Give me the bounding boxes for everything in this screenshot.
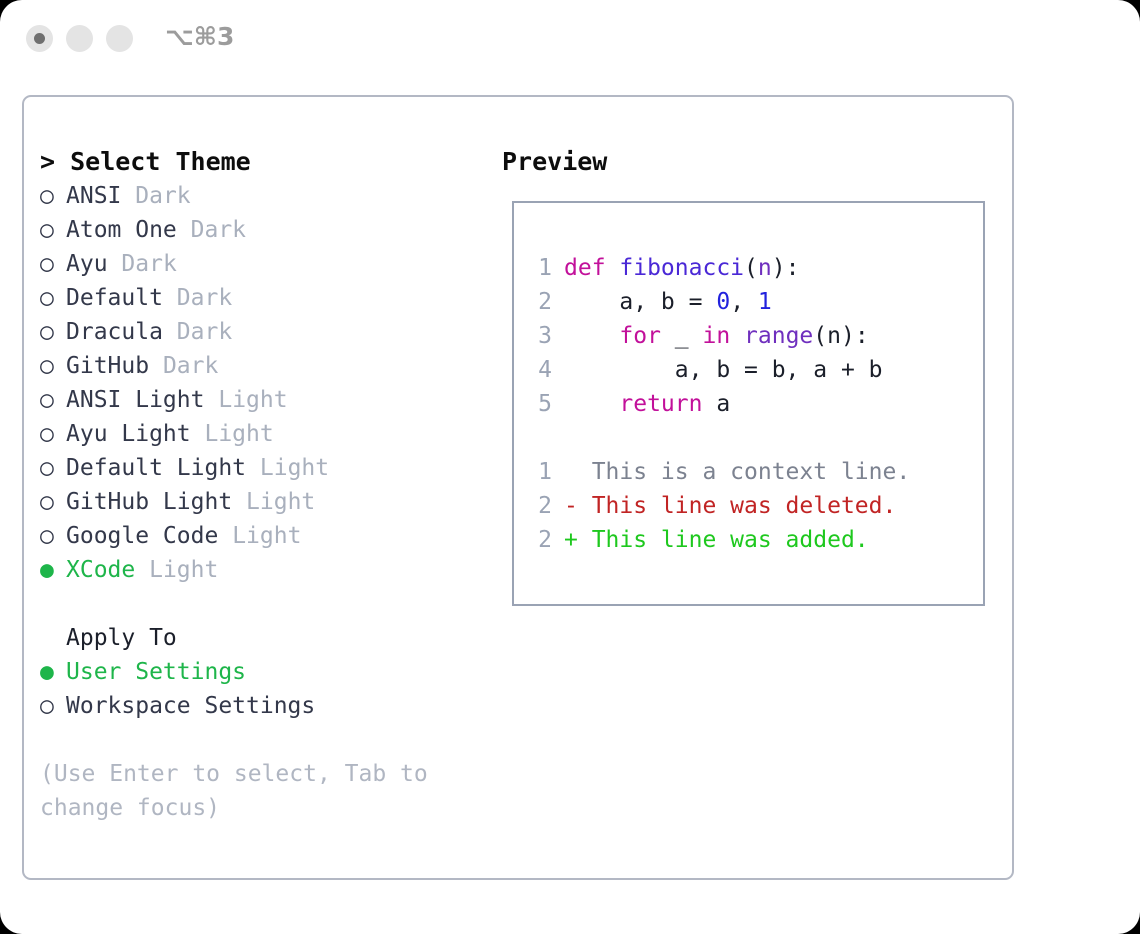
theme-variant-label: Dark (177, 285, 232, 311)
diff-line: 2- This line was deleted. (528, 489, 979, 523)
code-token: a, b = (564, 289, 716, 315)
code-line: 3 for _ in range(n): (528, 319, 979, 353)
code-preview: 1def fibonacci(n):2 a, b = 0, 13 for _ i… (528, 251, 979, 557)
radio-unselected-icon: ○ (40, 451, 66, 485)
diff-line-text: - This line was deleted. (564, 493, 896, 519)
radio-unselected-icon: ○ (40, 179, 66, 213)
window-titlebar: ⌥⌘3 (0, 0, 1140, 78)
theme-option-ansi-light[interactable]: ○ANSI Light Light (40, 383, 480, 417)
select-theme-heading: > Select Theme (40, 145, 480, 179)
line-number: 2 (528, 489, 552, 523)
theme-option-atom-one[interactable]: ○Atom One Dark (40, 213, 480, 247)
code-token (564, 323, 619, 349)
preview-box: 1def fibonacci(n):2 a, b = 0, 13 for _ i… (512, 201, 985, 606)
apply-to-option-label: User Settings (66, 659, 246, 685)
radio-unselected-icon: ○ (40, 417, 66, 451)
apply-to-option-workspace-settings[interactable]: ○Workspace Settings (40, 689, 480, 723)
theme-option-label: ANSI (66, 183, 121, 209)
theme-option-label: Atom One (66, 217, 177, 243)
line-number: 5 (528, 387, 552, 421)
theme-option-ayu-light[interactable]: ○Ayu Light Light (40, 417, 480, 451)
code-line: 5 return a (528, 387, 979, 421)
theme-option-label: Ayu (66, 251, 108, 277)
code-token: (n): (813, 323, 868, 349)
code-token: for (619, 323, 661, 349)
theme-option-google-code[interactable]: ○Google Code Light (40, 519, 480, 553)
code-token: ( (744, 255, 758, 281)
code-token: , (730, 289, 758, 315)
radio-selected-icon: ● (40, 553, 66, 587)
line-number: 1 (528, 455, 552, 489)
line-number: 1 (528, 251, 552, 285)
window-dot-2[interactable] (66, 25, 93, 52)
code-token (564, 391, 619, 417)
apply-to-options: ●User Settings○Workspace Settings (40, 655, 480, 723)
theme-picker-panel: > Select Theme ○ANSI Dark○Atom One Dark○… (22, 95, 1014, 880)
radio-unselected-icon: ○ (40, 485, 66, 519)
apply-to-heading: Apply To (40, 621, 480, 655)
theme-option-xcode[interactable]: ●XCode Light (40, 553, 480, 587)
theme-option-label: Default (66, 285, 163, 311)
apply-to-option-user-settings[interactable]: ●User Settings (40, 655, 480, 689)
line-number: 2 (528, 285, 552, 319)
window-dot-3[interactable] (106, 25, 133, 52)
theme-option-github-light[interactable]: ○GitHub Light Light (40, 485, 480, 519)
theme-variant-label: Light (218, 387, 287, 413)
theme-option-label: Default Light (66, 455, 246, 481)
radio-unselected-icon: ○ (40, 349, 66, 383)
theme-option-label: GitHub Light (66, 489, 232, 515)
code-line: 4 a, b = b, a + b (528, 353, 979, 387)
theme-option-default[interactable]: ○Default Dark (40, 281, 480, 315)
code-token: return (619, 391, 702, 417)
code-token: a (702, 391, 730, 417)
theme-option-ayu[interactable]: ○Ayu Dark (40, 247, 480, 281)
line-number: 2 (528, 523, 552, 557)
diff-line-text: + This line was added. (564, 527, 869, 553)
theme-option-github[interactable]: ○GitHub Dark (40, 349, 480, 383)
code-token: _ (661, 323, 703, 349)
radio-unselected-icon: ○ (40, 281, 66, 315)
code-token: def (564, 255, 619, 281)
diff-line: 1 This is a context line. (528, 455, 979, 489)
keyboard-shortcut-label: ⌥⌘3 (165, 22, 234, 51)
radio-unselected-icon: ○ (40, 213, 66, 247)
code-token: 1 (758, 289, 772, 315)
theme-list: ○ANSI Dark○Atom One Dark○Ayu Dark○Defaul… (40, 179, 480, 587)
diff-line: 2+ This line was added. (528, 523, 979, 557)
code-token: a, b = b, a + b (564, 357, 883, 383)
code-diff-separator (528, 421, 979, 455)
code-token: in (702, 323, 730, 349)
apply-to-section: Apply To ●User Settings○Workspace Settin… (40, 621, 480, 723)
theme-option-label: ANSI Light (66, 387, 204, 413)
theme-variant-label: Light (204, 421, 273, 447)
preview-heading: Preview (502, 145, 1002, 179)
theme-option-dracula[interactable]: ○Dracula Dark (40, 315, 480, 349)
theme-option-label: XCode (66, 557, 135, 583)
theme-variant-label: Light (149, 557, 218, 583)
code-token: ): (772, 255, 800, 281)
theme-selection-column: > Select Theme ○ANSI Dark○Atom One Dark○… (40, 145, 480, 825)
code-token (730, 323, 744, 349)
theme-option-label: Ayu Light (66, 421, 191, 447)
theme-variant-label: Light (232, 523, 301, 549)
theme-option-label: Dracula (66, 319, 163, 345)
code-token: 0 (716, 289, 730, 315)
keyboard-hint-text: (Use Enter to select, Tab to change focu… (40, 757, 440, 825)
theme-variant-label: Light (246, 489, 315, 515)
radio-unselected-icon: ○ (40, 247, 66, 281)
radio-unselected-icon: ○ (40, 315, 66, 349)
code-token: fibonacci (619, 255, 744, 281)
theme-option-default-light[interactable]: ○Default Light Light (40, 451, 480, 485)
code-token: n (758, 255, 772, 281)
theme-option-label: Google Code (66, 523, 218, 549)
theme-variant-label: Dark (163, 353, 218, 379)
radio-unselected-icon: ○ (40, 519, 66, 553)
theme-variant-label: Dark (177, 319, 232, 345)
code-line: 1def fibonacci(n): (528, 251, 979, 285)
window-dot-active-inner (34, 33, 45, 44)
radio-unselected-icon: ○ (40, 689, 66, 723)
apply-to-option-label: Workspace Settings (66, 693, 315, 719)
theme-variant-label: Dark (135, 183, 190, 209)
theme-option-label: GitHub (66, 353, 149, 379)
line-number: 4 (528, 353, 552, 387)
code-line: 2 a, b = 0, 1 (528, 285, 979, 319)
code-token: range (744, 323, 813, 349)
theme-variant-label: Light (260, 455, 329, 481)
app-window: ⌥⌘3 > Select Theme ○ANSI Dark○Atom One D… (0, 0, 1140, 934)
diff-line-text: This is a context line. (564, 459, 910, 485)
theme-option-ansi[interactable]: ○ANSI Dark (40, 179, 480, 213)
theme-variant-label: Dark (121, 251, 176, 277)
radio-unselected-icon: ○ (40, 383, 66, 417)
theme-variant-label: Dark (191, 217, 246, 243)
line-number: 3 (528, 319, 552, 353)
preview-column: Preview 1def fibonacci(n):2 a, b = 0, 13… (502, 145, 1002, 606)
window-dot-active[interactable] (26, 25, 53, 52)
radio-selected-icon: ● (40, 655, 66, 689)
